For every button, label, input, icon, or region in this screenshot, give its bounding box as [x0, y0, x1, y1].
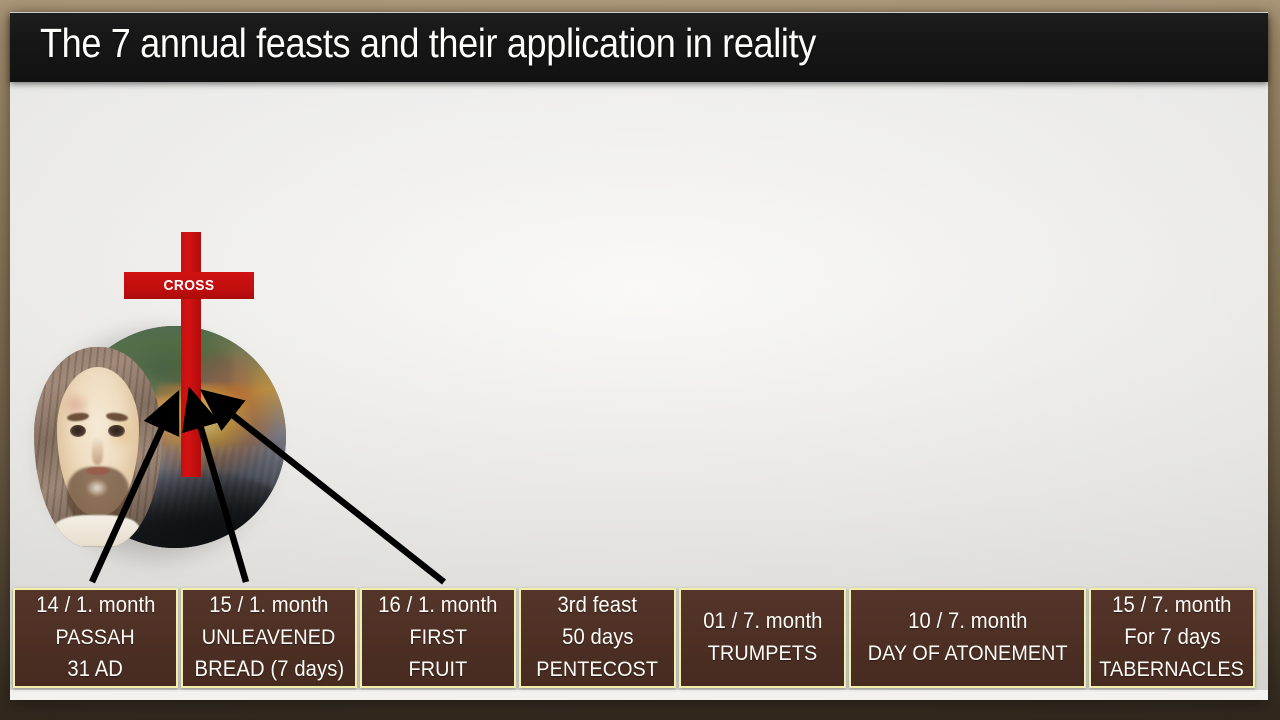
- feast-extra: PENTECOST: [537, 653, 659, 685]
- arrow-first-fruit: [206, 394, 444, 582]
- feast-boxes-row: 14 / 1. month PASSAH 31 AD 15 / 1. month…: [13, 588, 1263, 688]
- feast-box-unleavened-bread[interactable]: 15 / 1. month UNLEAVENED BREAD (7 days): [181, 588, 357, 688]
- feast-extra: 31 AD: [68, 653, 124, 685]
- feast-date: 16 / 1. month: [378, 589, 497, 621]
- feast-name: DAY OF ATONEMENT: [867, 637, 1067, 669]
- feast-box-day-of-atonement[interactable]: 10 / 7. month DAY OF ATONEMENT: [849, 588, 1086, 688]
- bottom-white-strip: [10, 690, 1268, 700]
- feast-date: 14 / 1. month: [36, 589, 155, 621]
- feast-box-first-fruit[interactable]: 16 / 1. month FIRST FRUIT: [360, 588, 516, 688]
- title-bar: The 7 annual feasts and their applicatio…: [10, 13, 1268, 82]
- arrow-group: [10, 82, 1268, 582]
- feast-box-tabernacles[interactable]: 15 / 7. month For 7 days TABERNACLES: [1089, 588, 1255, 688]
- illustration-stage: CROSS: [10, 82, 1268, 582]
- feast-extra: TABERNACLES: [1100, 653, 1245, 685]
- arrow-passah: [92, 397, 176, 582]
- feast-name: TRUMPETS: [708, 637, 818, 669]
- page-title: The 7 annual feasts and their applicatio…: [40, 20, 816, 67]
- feast-name: FIRST: [409, 621, 467, 653]
- feast-box-pentecost[interactable]: 3rd feast 50 days PENTECOST: [519, 588, 676, 688]
- feast-name: 50 days: [562, 621, 634, 653]
- feast-date: 3rd feast: [558, 589, 638, 621]
- feast-extra: BREAD (7 days): [194, 653, 344, 685]
- feast-box-passah[interactable]: 14 / 1. month PASSAH 31 AD: [13, 588, 178, 688]
- feast-extra: FRUIT: [409, 653, 468, 685]
- feast-date: 01 / 7. month: [703, 605, 822, 637]
- feast-name: PASSAH: [56, 621, 135, 653]
- feast-date: 15 / 1. month: [209, 589, 328, 621]
- feast-name: For 7 days: [1124, 621, 1221, 653]
- feast-date: 15 / 7. month: [1112, 589, 1231, 621]
- feast-date: 10 / 7. month: [908, 605, 1027, 637]
- slide: The 7 annual feasts and their applicatio…: [0, 0, 1280, 720]
- feast-name: UNLEAVENED: [202, 621, 336, 653]
- feast-box-trumpets[interactable]: 01 / 7. month TRUMPETS: [679, 588, 846, 688]
